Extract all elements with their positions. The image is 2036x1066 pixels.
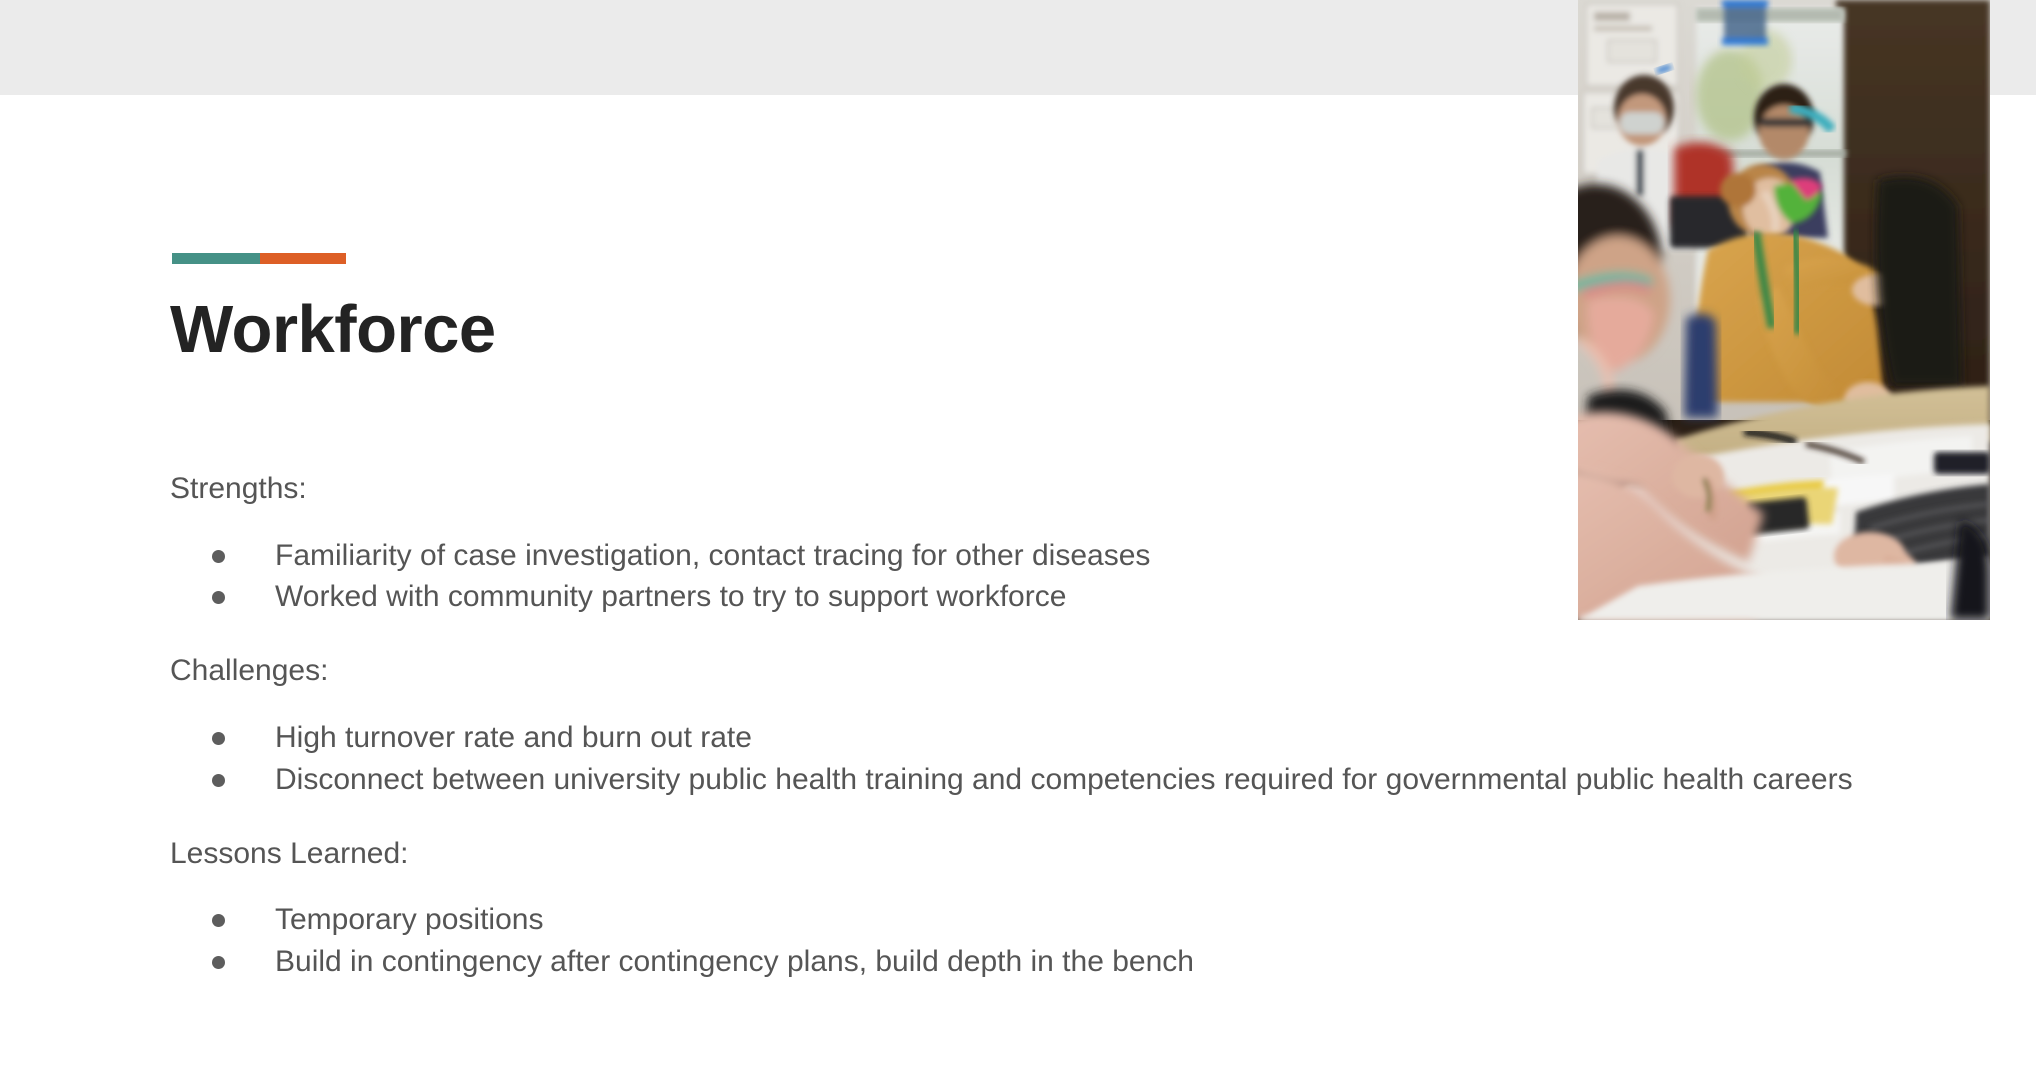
list-item-label: Disconnect between university public hea…: [275, 763, 1853, 796]
list-item-label: Familiarity of case investigation, conta…: [275, 539, 1150, 572]
page-title: Workforce: [170, 295, 496, 365]
bullet-dot-icon: [212, 550, 225, 563]
section-heading-lessons-learned: Lessons Learned:: [170, 834, 1930, 875]
bullet-dot-icon: [212, 774, 225, 787]
bullet-list-challenges: High turnover rate and burn out rate Dis…: [170, 718, 1930, 800]
bullet-list-lessons-learned: Temporary positions Build in contingency…: [170, 900, 1930, 982]
list-item: Temporary positions: [170, 900, 1930, 940]
section-challenges: Challenges: High turnover rate and burn …: [170, 651, 1930, 799]
accent-rule-orange-segment: [260, 253, 346, 264]
slide-photo: [1578, 0, 1990, 620]
accent-rule-teal-segment: [172, 253, 260, 264]
list-item-label: High turnover rate and burn out rate: [275, 721, 752, 754]
list-item: Build in contingency after contingency p…: [170, 942, 1930, 982]
bullet-dot-icon: [212, 914, 225, 927]
list-item-label: Temporary positions: [275, 903, 543, 936]
list-item: High turnover rate and burn out rate: [170, 718, 1930, 758]
accent-rule: [172, 253, 346, 264]
section-lessons-learned: Lessons Learned: Temporary positions Bui…: [170, 834, 1930, 982]
list-item-label: Worked with community partners to try to…: [275, 580, 1066, 613]
list-item-label: Build in contingency after contingency p…: [275, 945, 1194, 978]
bullet-dot-icon: [212, 956, 225, 969]
slide-canvas: Workforce Strengths: Familiarity of case…: [0, 0, 2036, 1066]
section-heading-challenges: Challenges:: [170, 651, 1930, 692]
bullet-dot-icon: [212, 591, 225, 604]
list-item: Disconnect between university public hea…: [170, 760, 1930, 800]
bullet-dot-icon: [212, 732, 225, 745]
